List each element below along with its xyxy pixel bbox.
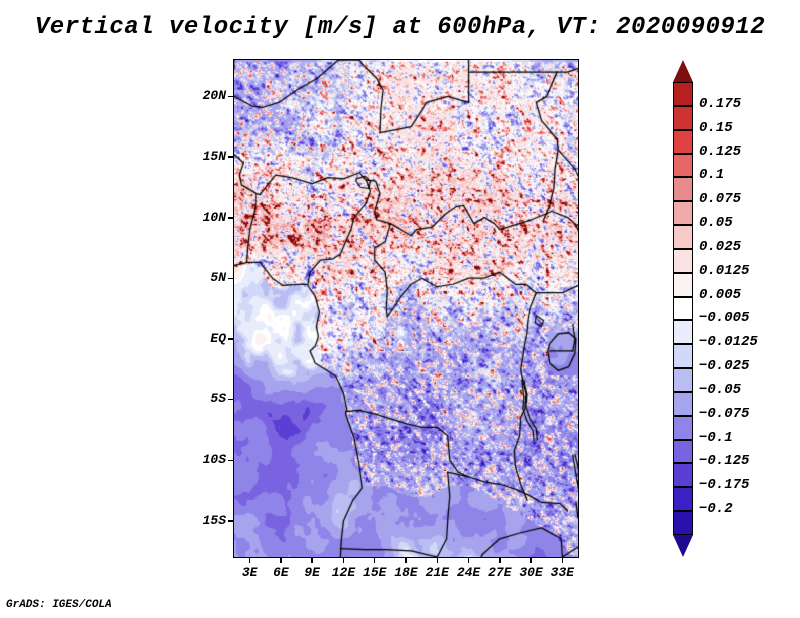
colorbar-tick-label: −0.05 — [699, 382, 741, 398]
colorbar-segment — [673, 177, 693, 201]
x-tick-mark — [562, 557, 564, 563]
y-axis-label: 20N — [186, 88, 226, 103]
x-tick-mark — [499, 557, 501, 563]
colorbar-segment — [673, 225, 693, 249]
x-axis-label: 33E — [540, 565, 584, 580]
colorbar-tick-label: −0.2 — [699, 501, 733, 517]
colorbar-segment — [673, 463, 693, 487]
y-tick-mark — [228, 399, 234, 401]
colorbar-segment — [673, 320, 693, 344]
colorbar-tick-label: −0.125 — [699, 453, 749, 469]
colorbar-segment — [673, 273, 693, 297]
colorbar-tick-label: 0.0125 — [699, 263, 749, 279]
map-plot-area — [234, 60, 578, 557]
x-tick-mark — [311, 557, 313, 563]
colorbar-tick-label: 0.075 — [699, 191, 741, 207]
x-tick-mark — [530, 557, 532, 563]
colorbar-tick-label: −0.175 — [699, 477, 749, 493]
colorbar-segment — [673, 201, 693, 225]
y-axis-label: 5N — [186, 270, 226, 285]
y-tick-mark — [228, 338, 234, 340]
colorbar-segment — [673, 511, 693, 535]
x-tick-mark — [437, 557, 439, 563]
colorbar-segment — [673, 416, 693, 440]
y-tick-mark — [228, 217, 234, 219]
colorbar-segment — [673, 368, 693, 392]
colorbar-tick-label: −0.0125 — [699, 334, 758, 350]
colorbar-segment — [673, 344, 693, 368]
y-axis-label: 10S — [186, 452, 226, 467]
colorbar-segment — [673, 130, 693, 154]
colorbar-tick-label: 0.125 — [699, 144, 741, 160]
vertical-velocity-heatmap — [234, 60, 578, 557]
x-tick-mark — [343, 557, 345, 563]
y-tick-mark — [228, 520, 234, 522]
y-axis-label: 10N — [186, 210, 226, 225]
colorbar-tick-label: 0.05 — [699, 215, 733, 231]
y-axis-label: 15S — [186, 513, 226, 528]
y-axis-label: EQ — [186, 331, 226, 346]
colorbar-segment — [673, 82, 693, 106]
y-tick-mark — [228, 156, 234, 158]
colorbar-tick-label: −0.025 — [699, 358, 749, 374]
y-tick-mark — [228, 278, 234, 280]
colorbar-segment — [673, 249, 693, 273]
x-tick-mark — [405, 557, 407, 563]
y-tick-mark — [228, 460, 234, 462]
x-tick-mark — [249, 557, 251, 563]
colorbar-tick-label: 0.1 — [699, 167, 724, 183]
credit-label: GrADS: IGES/COLA — [6, 599, 112, 611]
y-tick-mark — [228, 96, 234, 98]
colorbar-tick-label: 0.025 — [699, 239, 741, 255]
colorbar-tick-label: 0.005 — [699, 287, 741, 303]
colorbar-tick-label: −0.005 — [699, 310, 749, 326]
colorbar-min-arrow — [673, 535, 693, 557]
colorbar-segment — [673, 440, 693, 464]
x-tick-mark — [374, 557, 376, 563]
y-axis-label: 5S — [186, 391, 226, 406]
colorbar-segment — [673, 392, 693, 416]
colorbar-tick-label: 0.15 — [699, 120, 733, 136]
x-tick-mark — [280, 557, 282, 563]
colorbar-tick-label: −0.075 — [699, 406, 749, 422]
colorbar-max-arrow — [673, 60, 693, 82]
colorbar-tick-label: −0.1 — [699, 430, 733, 446]
colorbar-segment — [673, 487, 693, 511]
colorbar-tick-label: 0.175 — [699, 96, 741, 112]
page-title: Vertical velocity [m/s] at 600hPa, VT: 2… — [0, 14, 800, 41]
colorbar-segment — [673, 106, 693, 130]
colorbar: 0.1750.150.1250.10.0750.050.0250.01250.0… — [673, 60, 693, 557]
colorbar-segment — [673, 297, 693, 321]
colorbar-segment — [673, 154, 693, 178]
x-tick-mark — [468, 557, 470, 563]
y-axis-label: 15N — [186, 149, 226, 164]
